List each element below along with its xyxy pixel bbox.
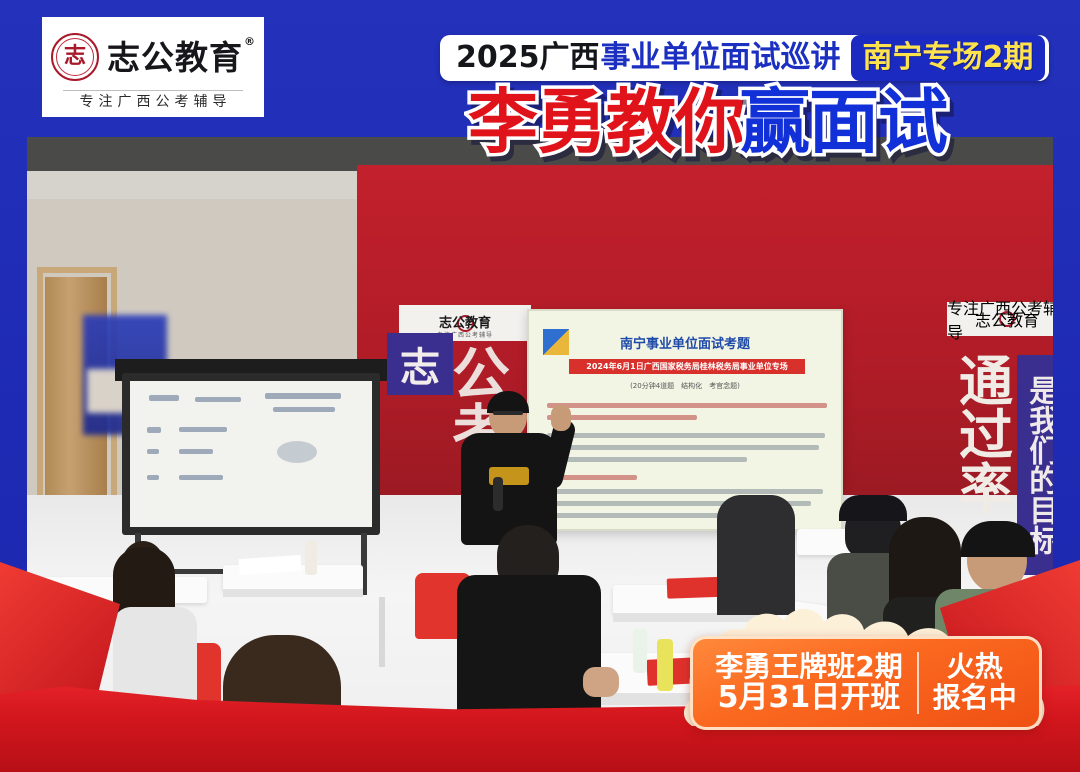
whiteboard-writing xyxy=(147,475,159,480)
brand-seal-char: 志 xyxy=(64,46,86,68)
presenter-hand xyxy=(551,405,571,431)
whiteboard-writing xyxy=(277,441,317,463)
brand-seal-icon: 志 xyxy=(51,33,99,81)
badge-divider xyxy=(917,652,919,714)
presenter-glasses xyxy=(493,411,523,415)
slide-text-line xyxy=(547,457,747,462)
event-banner-pill: 2025广西 事业单位面试巡讲 南宁专场2期 xyxy=(440,35,1049,81)
whiteboard-surface xyxy=(130,381,372,527)
student-cap xyxy=(839,495,907,521)
course-name: 李勇王牌班2期 xyxy=(715,652,902,682)
whiteboard-writing xyxy=(147,427,161,433)
whiteboard-writing xyxy=(195,397,241,402)
wall-badge-left: 志 xyxy=(387,333,453,395)
whiteboard-writing xyxy=(273,407,335,412)
wall-logo-tagline-right: 专注广西公考辅导 xyxy=(947,295,1053,343)
student-back xyxy=(717,495,795,615)
brand-tagline: 专注广西公考辅导 xyxy=(75,95,232,109)
projector-screen: 南宁事业单位面试考题 2024年6月1日广西国家税务局桂林税务局事业单位专场 (… xyxy=(527,309,843,531)
chair-leg xyxy=(379,597,385,667)
enrollment-status-bottom: 报名中 xyxy=(933,683,1017,714)
wall-logo-card-right: 志公教育 专注广西公考辅导 xyxy=(947,302,1053,336)
slide-subtitle: 2024年6月1日广西国家税务局桂林税务局事业单位专场 xyxy=(569,359,805,374)
enrollment-flame-badge[interactable]: 李勇王牌班2期 5月31日开班 火热 报名中 xyxy=(652,600,1072,750)
slide-text-line xyxy=(547,445,819,450)
enrollment-badge-body[interactable]: 李勇王牌班2期 5月31日开班 火热 报名中 xyxy=(690,636,1042,730)
whiteboard-writing xyxy=(179,449,213,454)
event-banner-prefix: 2025广西 xyxy=(456,43,600,73)
main-headline: 李勇教你 赢面试 xyxy=(468,88,947,157)
enrollment-badge-right: 火热 报名中 xyxy=(933,652,1017,714)
slide-meta: (20分钟4道题 结构化 考官念题) xyxy=(529,381,841,391)
event-session-tag: 南宁专场2期 xyxy=(851,35,1046,81)
slide-text-line xyxy=(547,433,825,438)
slide-text-line xyxy=(547,403,827,408)
whiteboard-writing xyxy=(179,427,227,432)
whiteboard-writing xyxy=(179,475,223,480)
bottle xyxy=(305,541,317,575)
poster-canvas: 志 志公教育® 专注广西公考辅导 2025广西 事业单位面试巡讲 南宁专场2期 … xyxy=(0,0,1080,772)
event-banner-emphasis: 事业单位面试巡讲 xyxy=(601,43,841,73)
wall-logo-name-left: 志公教育 xyxy=(439,317,491,330)
water-bottle xyxy=(633,629,647,673)
desk-edge xyxy=(223,589,363,597)
enrollment-status-top: 火热 xyxy=(947,652,1003,683)
slide-text-line xyxy=(547,489,823,494)
wall-vertical-text-right: 通过率 xyxy=(955,355,1017,517)
whiteboard-writing xyxy=(265,393,341,399)
brand-name: 志公教育® xyxy=(107,41,255,74)
brand-logo-card: 志 志公教育® 专注广西公考辅导 xyxy=(42,17,264,117)
whiteboard-writing xyxy=(147,449,159,454)
course-start-date: 5月31日开班 xyxy=(718,682,901,714)
registered-mark: ® xyxy=(244,35,256,48)
brand-divider xyxy=(63,90,243,91)
slide-title: 南宁事业单位面试考题 xyxy=(529,333,841,352)
headline-part-blue: 赢面试 xyxy=(740,88,947,157)
presenter-microphone xyxy=(493,477,503,511)
brand-name-text: 志公教育 xyxy=(107,38,243,77)
whiteboard-writing xyxy=(149,395,179,401)
enrollment-badge-left: 李勇王牌班2期 5月31日开班 xyxy=(715,652,902,713)
student-hand xyxy=(583,667,619,697)
headline-part-red: 李勇教你 xyxy=(468,88,744,157)
brand-logo-row: 志 志公教育® xyxy=(51,25,255,85)
